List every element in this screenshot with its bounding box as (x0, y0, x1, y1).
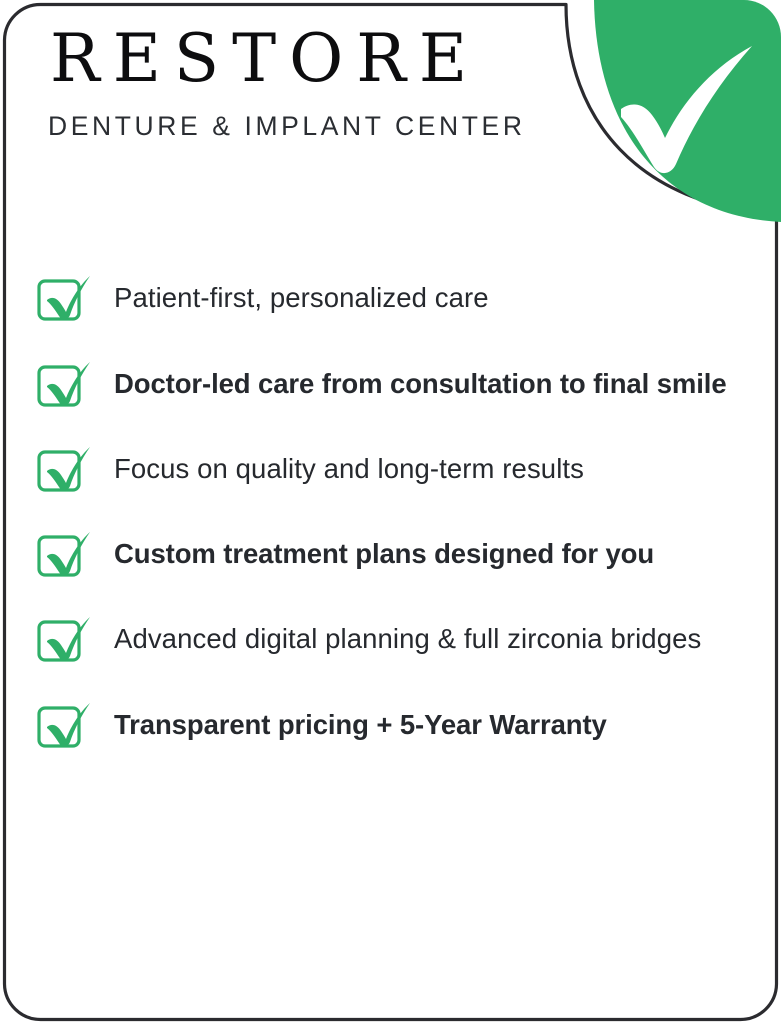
list-item-label: Custom treatment plans designed for you (114, 528, 748, 571)
brand-block: RESTORE DENTURE & IMPLANT CENTER (44, 26, 564, 140)
list-item-label: Doctor-led care from consultation to fin… (114, 358, 748, 401)
checkbox-checked-icon (36, 613, 92, 663)
list-item: Focus on quality and long-term results (36, 443, 748, 499)
page-title: RESTORE (50, 26, 564, 92)
checkbox-checked-icon (36, 358, 92, 408)
list-item: Doctor-led care from consultation to fin… (36, 358, 748, 414)
list-item: Custom treatment plans designed for you (36, 528, 748, 584)
list-item: Transparent pricing + 5-Year Warranty (36, 699, 748, 755)
list-item-label: Advanced digital planning & full zirconi… (114, 613, 748, 656)
list-item-label: Focus on quality and long-term results (114, 443, 748, 486)
list-item-label: Transparent pricing + 5-Year Warranty (114, 699, 748, 742)
benefits-list: Patient-first, personalized care Doctor-… (36, 272, 748, 755)
checkbox-checked-icon (36, 528, 92, 578)
poster-canvas: RESTORE DENTURE & IMPLANT CENTER Patient… (0, 0, 781, 1024)
list-item: Patient-first, personalized care (36, 272, 748, 328)
checkbox-checked-icon (36, 699, 92, 749)
checkbox-checked-icon (36, 443, 92, 493)
list-item: Advanced digital planning & full zirconi… (36, 613, 748, 669)
checkbox-checked-icon (36, 272, 92, 322)
brand-subtitle: DENTURE & IMPLANT CENTER (48, 113, 564, 140)
list-item-label: Patient-first, personalized care (114, 272, 748, 315)
